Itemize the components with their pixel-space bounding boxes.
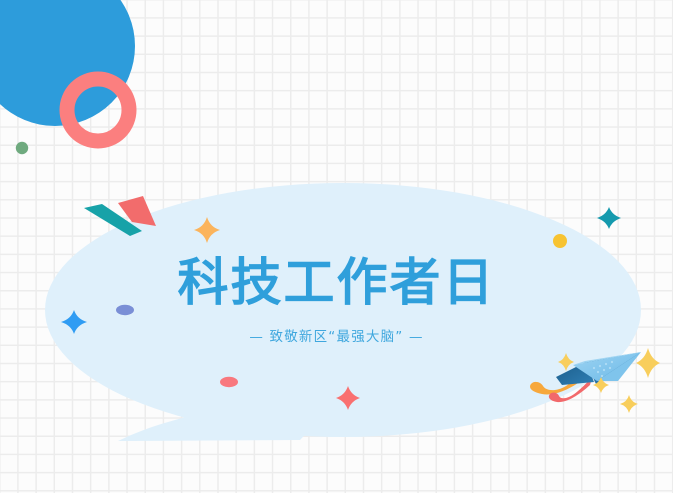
teal-sparkle-icon: [597, 207, 621, 229]
yellow-dot-icon: [553, 234, 567, 248]
sparkle-small-right-icon: [620, 395, 638, 413]
coral-dot-icon: [220, 377, 238, 387]
decorative-artwork: [0, 0, 673, 493]
green-dot-icon: [16, 142, 28, 154]
poster-canvas: 科技工作者日 — 致敬新区“最强大脑” —: [0, 0, 673, 493]
periwinkle-dot-icon: [116, 305, 134, 315]
